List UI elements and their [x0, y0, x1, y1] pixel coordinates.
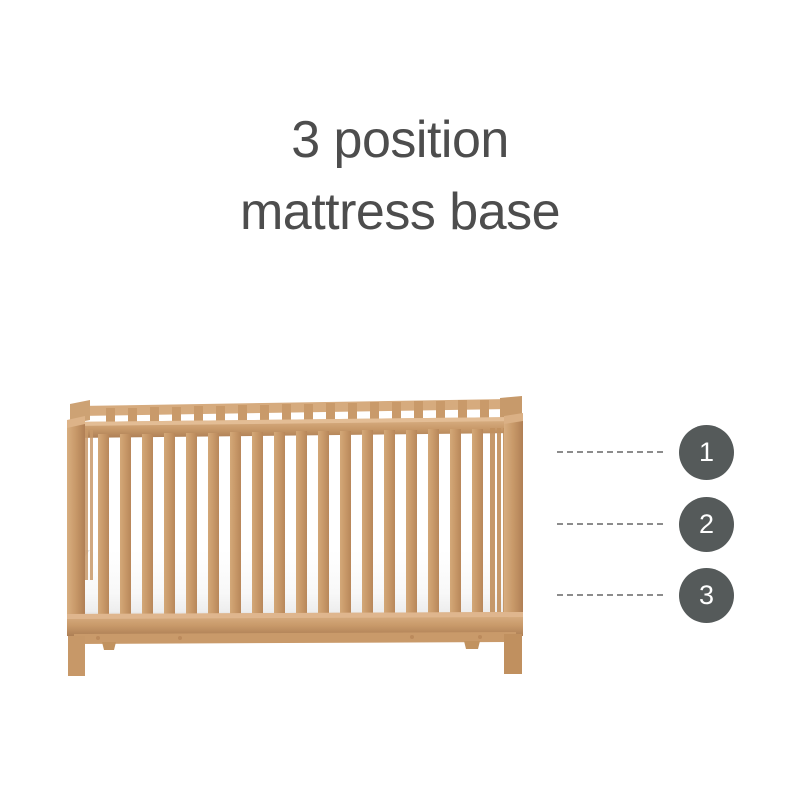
- callout-list: 1 2 3: [545, 415, 745, 640]
- callout-row-2: 2: [545, 496, 745, 552]
- page-title-line-1: 3 position: [0, 104, 800, 176]
- callout-badge-1: 1: [679, 425, 734, 480]
- callout-dashed-leader-1: [557, 451, 663, 453]
- callout-dashed-leader-2: [557, 523, 663, 525]
- page-title: 3 position mattress base: [0, 104, 800, 248]
- callout-badge-2: 2: [679, 497, 734, 552]
- callout-row-1: 1: [545, 424, 745, 480]
- page-title-line-2: mattress base: [0, 176, 800, 248]
- callout-badge-3: 3: [679, 568, 734, 623]
- product-feature-graphic: 3 position mattress base: [0, 0, 800, 800]
- cot-illustration: [60, 390, 530, 680]
- callout-row-3: 3: [545, 567, 745, 623]
- callout-dashed-leader-3: [557, 594, 663, 596]
